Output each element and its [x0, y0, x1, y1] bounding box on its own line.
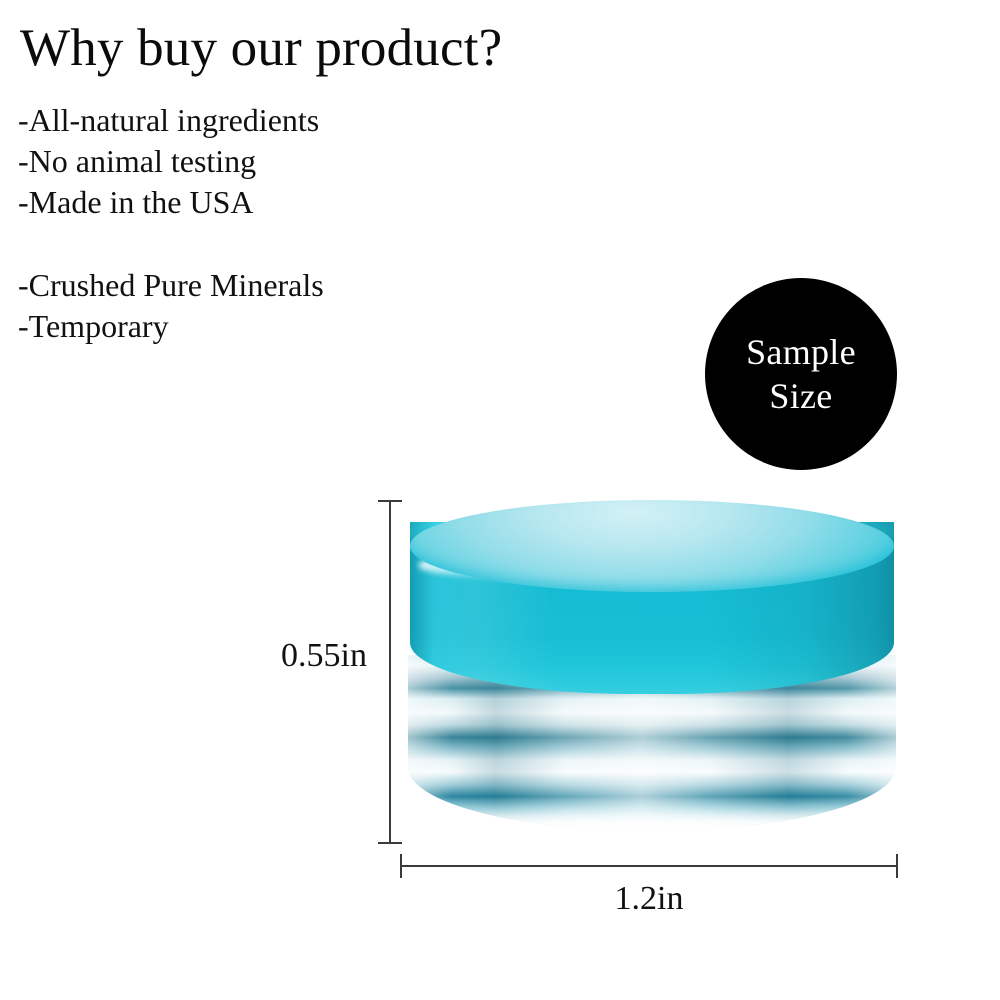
list-item: -Temporary: [18, 306, 658, 347]
badge-line-2: Size: [769, 374, 832, 418]
marketing-copy-block: Why buy our product? -All-natural ingred…: [18, 18, 658, 347]
dimension-cap-bottom: [378, 842, 402, 844]
status-badge: Sample Size: [705, 278, 897, 470]
jar-lid-top-rim: [410, 500, 894, 592]
jar-turquoise-lid: [404, 500, 900, 698]
list-item: -Made in the USA: [18, 182, 658, 223]
page-title: Why buy our product?: [20, 18, 658, 78]
badge-line-1: Sample: [746, 330, 856, 374]
dimension-label-width: 1.2in: [400, 880, 898, 918]
list-item: -No animal testing: [18, 141, 658, 182]
dimension-cap-right: [896, 854, 898, 878]
list-item: -All-natural ingredients: [18, 100, 658, 141]
dimension-cap-left: [400, 854, 402, 878]
jar-base-bottom-shade: [408, 796, 896, 830]
benefits-list-primary: -All-natural ingredients -No animal test…: [18, 100, 658, 223]
product-image-jar: [404, 500, 900, 845]
dimension-cap-top: [378, 500, 402, 502]
list-item: -Crushed Pure Minerals: [18, 265, 658, 306]
benefits-list-secondary: -Crushed Pure Minerals -Temporary: [18, 265, 658, 347]
dimension-line-horizontal: [400, 865, 898, 867]
dimension-line-vertical: [389, 500, 391, 844]
dimension-label-height: 0.55in: [281, 637, 367, 675]
